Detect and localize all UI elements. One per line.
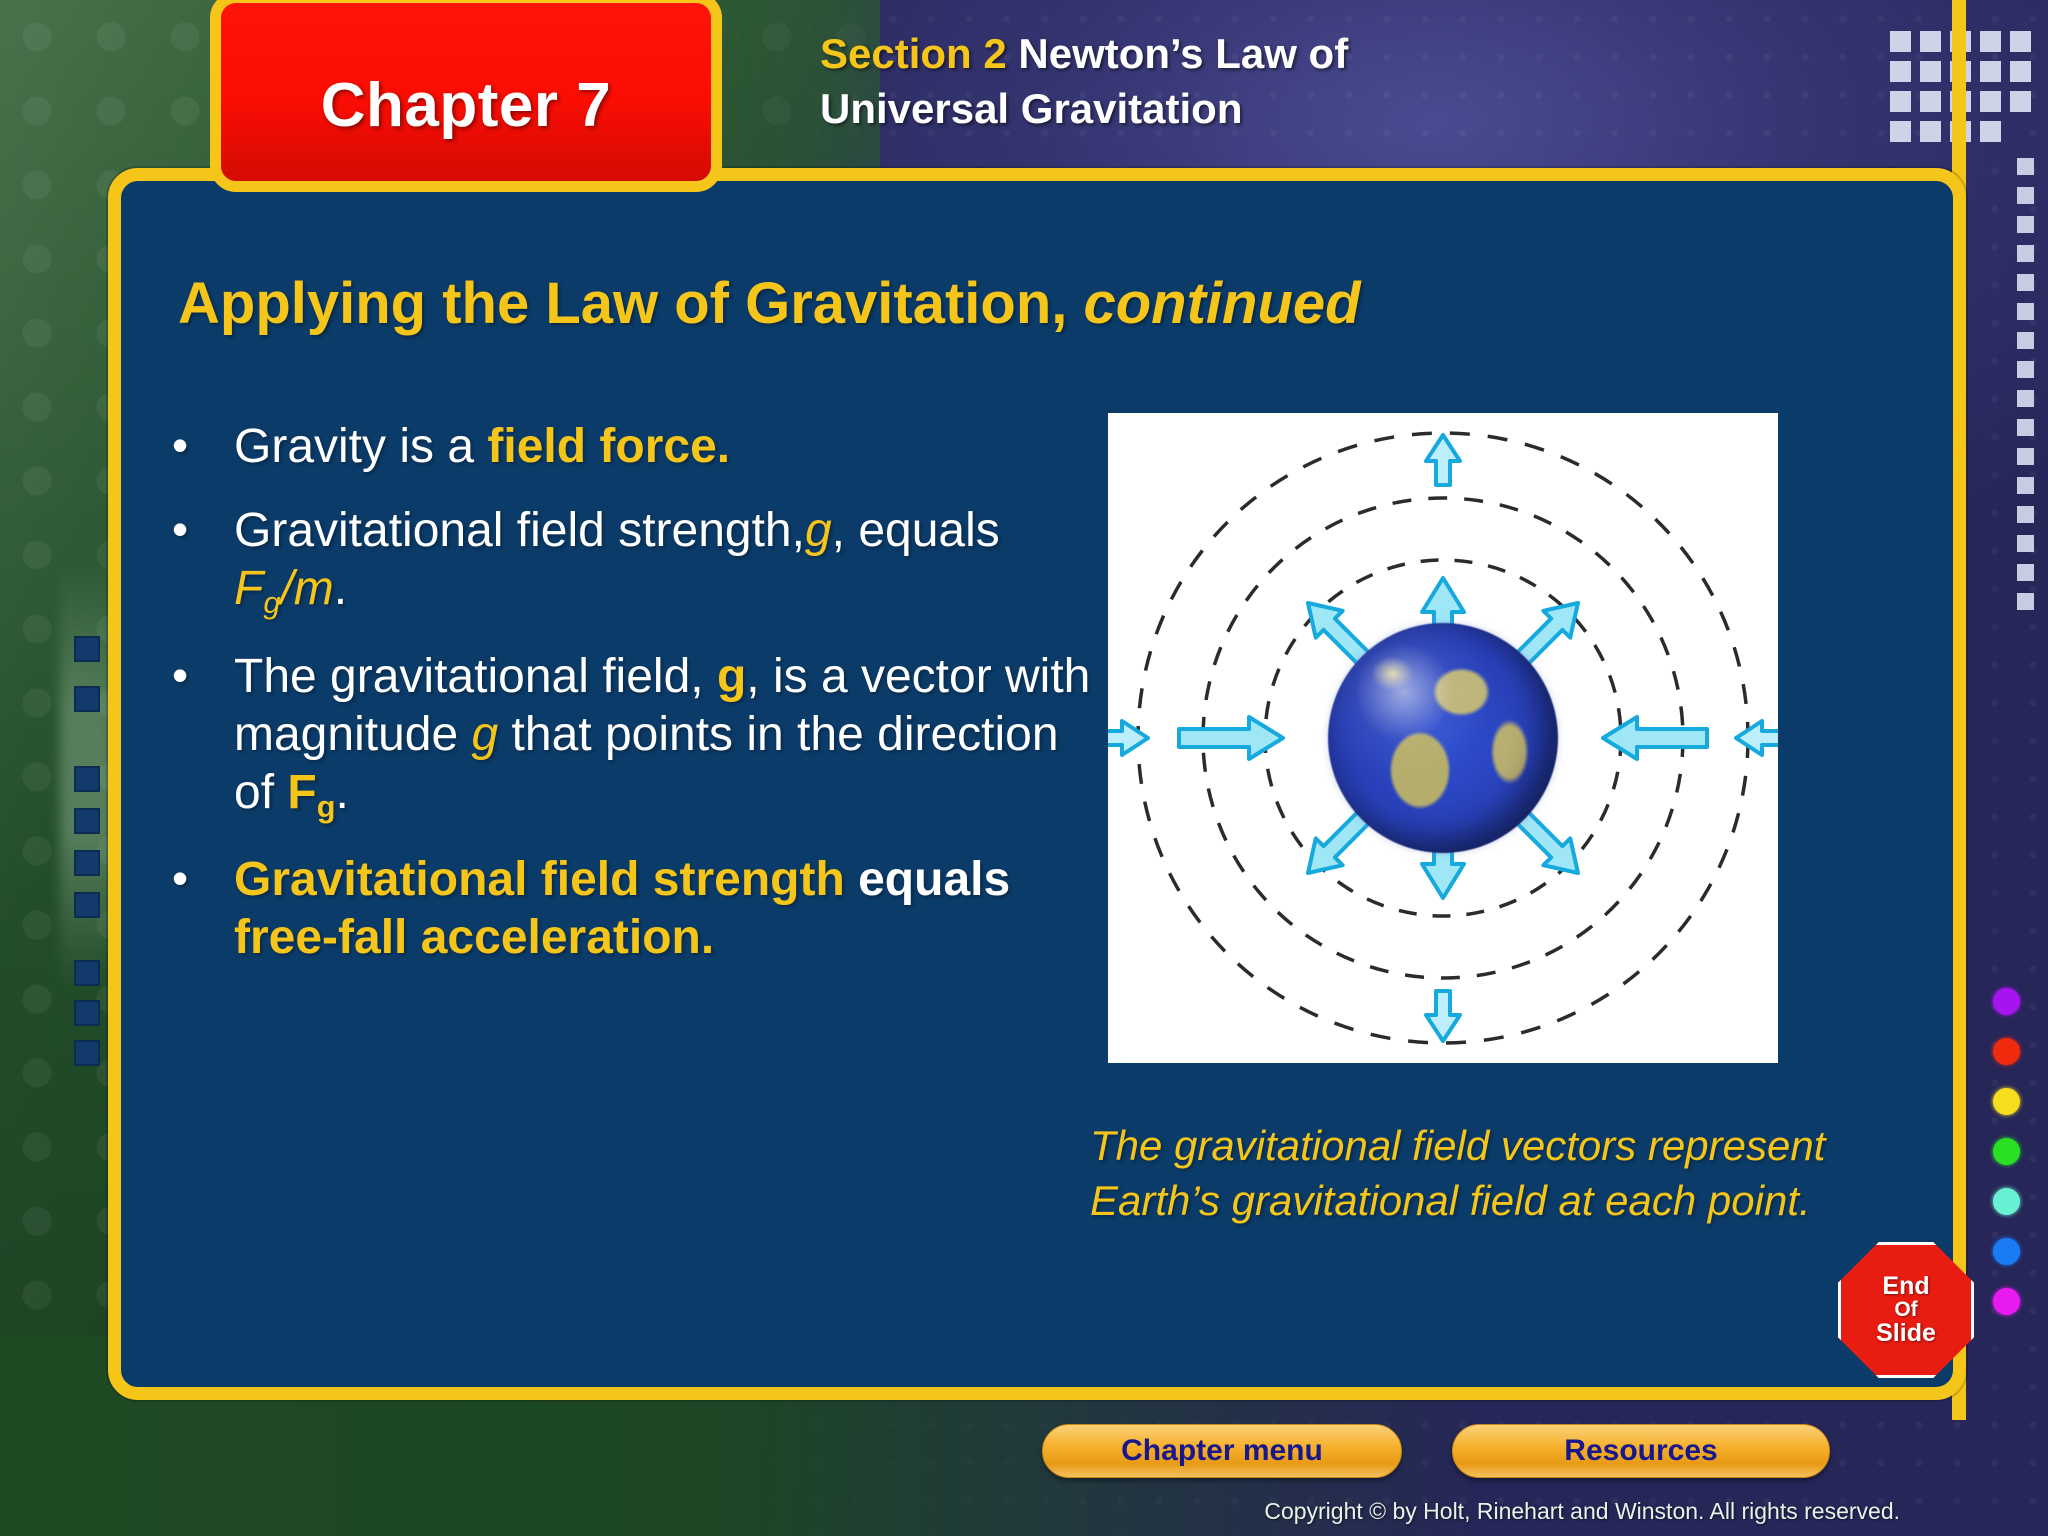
- decor-square: [1920, 121, 1941, 142]
- bullet-text-run: g: [805, 504, 832, 557]
- decor-square: [1920, 91, 1941, 112]
- decor-square: [2017, 390, 2034, 407]
- left-decor-square: [74, 1000, 100, 1026]
- bullet-text: Gravitational field strength equals free…: [234, 851, 1102, 967]
- decor-square: [2017, 448, 2034, 465]
- end-of-slide-line1: End: [1882, 1274, 1929, 1300]
- decor-square: [2010, 31, 2031, 52]
- decor-color-dot: [1993, 1138, 2020, 1165]
- left-decor-square: [74, 686, 100, 712]
- decor-square: [2017, 216, 2034, 233]
- end-of-slide-line3: Slide: [1876, 1321, 1936, 1347]
- decor-square: [2017, 361, 2034, 378]
- bullet-text-run: equals: [845, 853, 1010, 906]
- bullet-text-run: free-fall acceleration.: [234, 911, 714, 964]
- decor-square: [1920, 31, 1941, 52]
- decor-square: [1890, 61, 1911, 82]
- decor-square: [1980, 121, 2001, 142]
- bullet-item: •Gravitational field strength equals fre…: [172, 851, 1102, 967]
- decor-square: [1890, 31, 1911, 52]
- bullet-text-run: .: [335, 766, 348, 819]
- decor-square: [1980, 61, 2001, 82]
- section-header-line1: Section 2 Newton’s Law of: [820, 26, 1870, 81]
- bullet-text: The gravitational field, g, is a vector …: [234, 648, 1102, 826]
- bullet-text-run: , equals: [832, 504, 1000, 557]
- page-title: Applying the Law of Gravitation, continu…: [178, 270, 1361, 337]
- decor-color-dot: [1993, 1288, 2020, 1315]
- decor-color-dot: [1993, 1188, 2020, 1215]
- bullet-text-run: Gravitational field strength,: [234, 504, 805, 557]
- earth-globe-image: [1328, 623, 1558, 853]
- decor-square: [2017, 158, 2034, 175]
- bullet-text-run: g: [317, 789, 336, 824]
- decor-square: [2017, 245, 2034, 262]
- copyright-notice: Copyright © by Holt, Rinehart and Winsto…: [0, 1498, 1900, 1525]
- decor-square: [1980, 91, 2001, 112]
- decor-square: [2017, 506, 2034, 523]
- left-decor-square: [74, 766, 100, 792]
- bullet-item: •Gravity is a field force.: [172, 418, 1102, 476]
- bullet-text: Gravity is a field force.: [234, 418, 1102, 476]
- left-decor-square: [74, 960, 100, 986]
- section-title-part1: Newton’s Law of: [1007, 30, 1348, 77]
- bullet-item: •The gravitational field, g, is a vector…: [172, 648, 1102, 826]
- slide-canvas: Section 2 Newton’s Law of Universal Grav…: [0, 0, 2048, 1536]
- bullet-text-run: Gravity is a: [234, 420, 487, 473]
- figure-caption: The gravitational field vectors represen…: [1090, 1118, 1890, 1229]
- decor-square: [1980, 31, 2001, 52]
- chapter-tab: Chapter 7: [210, 0, 722, 192]
- chapter-menu-button[interactable]: Chapter menu: [1042, 1424, 1402, 1478]
- bullet-marker-icon: •: [172, 502, 234, 621]
- decor-square: [2010, 91, 2031, 112]
- decor-square: [1920, 61, 1941, 82]
- section-header: Section 2 Newton’s Law of Universal Grav…: [820, 26, 1870, 137]
- bullet-text-run: g: [717, 650, 746, 703]
- decor-square: [2017, 187, 2034, 204]
- bullet-marker-icon: •: [172, 418, 234, 476]
- decor-square: [2010, 61, 2031, 82]
- decor-square: [2017, 535, 2034, 552]
- left-decor-square: [74, 892, 100, 918]
- bullet-item: •Gravitational field strength,g, equals …: [172, 502, 1102, 621]
- bullet-text-run: Gravitational field strength: [234, 853, 845, 906]
- decor-square: [1890, 121, 1911, 142]
- bullet-text-run: field force.: [487, 420, 730, 473]
- decor-color-dot: [1993, 1038, 2020, 1065]
- left-decor-square: [74, 1040, 100, 1066]
- bullet-text-run: .: [334, 562, 347, 615]
- decor-square: [2017, 593, 2034, 610]
- page-title-main: Applying the Law of Gravitation,: [178, 271, 1067, 336]
- section-number-label: Section 2: [820, 30, 1007, 77]
- earth-gravitational-field-figure: [1108, 413, 1778, 1063]
- bullet-text-run: F: [287, 766, 316, 819]
- left-decor-square: [74, 808, 100, 834]
- chapter-menu-button-label: Chapter menu: [1121, 1434, 1323, 1468]
- bullet-marker-icon: •: [172, 648, 234, 826]
- decor-square: [2017, 332, 2034, 349]
- resources-button[interactable]: Resources: [1452, 1424, 1830, 1478]
- bullet-text-run: The gravitational field,: [234, 650, 717, 703]
- bullet-text: Gravitational field strength,g, equals F…: [234, 502, 1102, 621]
- decor-color-dot: [1993, 1088, 2020, 1115]
- bullet-text-run: g: [472, 708, 499, 761]
- end-of-slide-badge[interactable]: End Of Slide: [1838, 1242, 1974, 1378]
- bullet-list: •Gravity is a field force.•Gravitational…: [172, 418, 1102, 993]
- page-title-continued: continued: [1084, 271, 1361, 336]
- bullet-text-run: g: [263, 585, 280, 620]
- decor-square: [1890, 91, 1911, 112]
- section-header-line2: Universal Gravitation: [820, 81, 1870, 136]
- end-of-slide-octagon[interactable]: End Of Slide: [1838, 1242, 1974, 1378]
- decor-color-dot: [1993, 1238, 2020, 1265]
- resources-button-label: Resources: [1564, 1434, 1717, 1468]
- decor-square: [2017, 419, 2034, 436]
- bullet-text-run: F: [234, 562, 263, 615]
- bullet-marker-icon: •: [172, 851, 234, 967]
- end-of-slide-line2: Of: [1894, 1299, 1917, 1320]
- left-decor-square: [74, 850, 100, 876]
- decor-square: [2017, 564, 2034, 581]
- decor-color-dot: [1993, 988, 2020, 1015]
- decor-square: [2017, 477, 2034, 494]
- decor-square: [2017, 274, 2034, 291]
- decor-square: [2017, 303, 2034, 320]
- bullet-text-run: /m: [280, 562, 333, 615]
- chapter-tab-label: Chapter 7: [321, 44, 611, 141]
- left-decor-square: [74, 636, 100, 662]
